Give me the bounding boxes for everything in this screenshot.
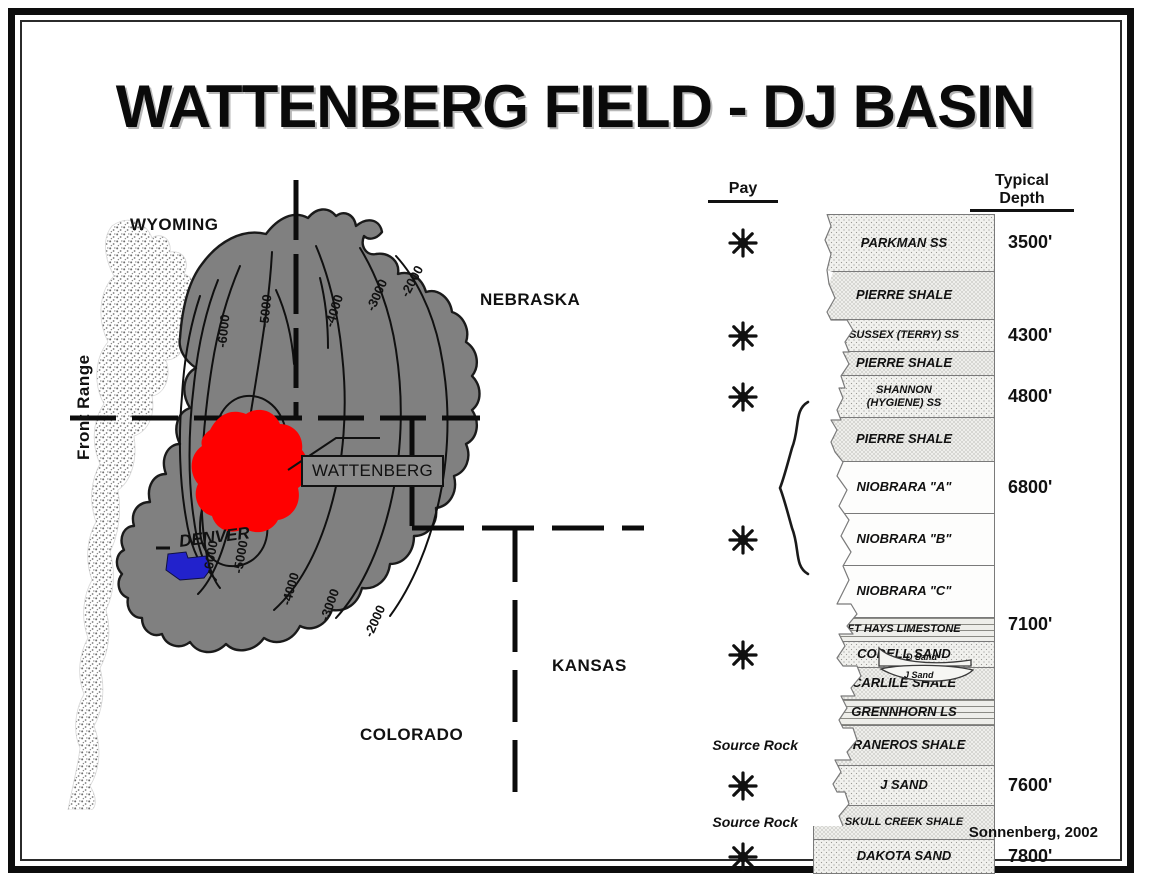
map-label-wyoming: WYOMING [130,215,219,235]
pay-star-shannon-hygiene-ss [728,382,758,412]
niobrara-group-brace [778,400,812,576]
strat-unit-parkman-ss: PARKMAN SS [813,214,995,272]
strat-unit-niobrara-b: NIOBRARA "B" [813,514,995,566]
strat-unit-label-graneros-shale: GRANEROS SHALE [841,738,968,753]
strat-unit-label-niobrara-b: NIOBRARA "B" [855,532,954,547]
depth-header-line1: Typical [995,172,1049,189]
pay-star-codell-sand [728,640,758,670]
strat-unit-sussex-terry-ss: SUSSEX (TERRY) SS [813,320,995,352]
typical-depth-column-header: Typical Depth [970,172,1074,212]
source-rock-label-graneros-shale: Source Rock [690,737,798,753]
depth-value-shannon-hygiene-ss: 4800' [1008,386,1052,407]
pay-star-parkman-ss [728,228,758,258]
strat-unit-label-grennhorn-ls: GRENNHORN LS [849,705,958,720]
wattenberg-callout-box: WATTENBERG [301,455,444,487]
pay-column-header: Pay [708,180,778,203]
strat-unit-label-niobrara-c: NIOBRARA "C" [855,584,954,599]
depth-value-parkman-ss: 3500' [1008,232,1052,253]
strat-unit-label-niobrara-a: NIOBRARA "A" [855,480,954,495]
pay-star-niobrara-b [728,525,758,555]
dj-basin-map-svg: -2000 -3000 -4000 -5000 -6000 -6000 -500… [60,170,680,810]
strat-unit-dakota-sand: DAKOTA SAND [813,840,995,874]
strat-unit-shannon-hygiene-ss: SHANNON(HYGIENE) SS [813,376,995,418]
figure-title: WATTENBERG FIELD - DJ BASIN [0,72,1150,141]
strat-unit-niobrara-a: NIOBRARA "A" [813,462,995,514]
strat-unit-label-shannon-hygiene-ss: SHANNON(HYGIENE) SS [865,384,944,409]
strat-unit-grennhorn-ls: GRENNHORN LS [813,700,995,726]
map-label-nebraska: NEBRASKA [480,290,580,310]
strat-unit-label-j-sand: J SAND [878,778,930,793]
strat-unit-label-pierre-shale-2: PIERRE SHALE [854,356,954,371]
pay-star-j-sand [728,771,758,801]
depth-value-sussex-terry-ss: 4300' [1008,325,1052,346]
strat-unit-codell-sand: CODELL SAND [813,642,995,668]
source-rock-label-skull-creek-shale: Source Rock [690,814,798,830]
strat-unit-graneros-shale: GRANEROS SHALE [813,726,995,766]
strat-unit-pierre-shale-3: PIERRE SHALE [813,418,995,462]
strat-unit-label-skull-creek-shale: SKULL CREEK SHALE [843,816,965,828]
strat-unit-label-parkman-ss: PARKMAN SS [859,236,949,251]
strat-unit-pierre-shale-2: PIERRE SHALE [813,352,995,376]
j-sand-label: J Sand [904,670,934,680]
strat-unit-niobrara-c: NIOBRARA "C" [813,566,995,618]
depth-header-line2: Depth [999,190,1044,207]
d-sand-label: D Sand [906,652,937,662]
figure-credit: Sonnenberg, 2002 [969,824,1098,841]
depth-value-j-sand: 7600' [1008,775,1052,796]
strat-unit-label-ft-hays-limestone: FT HAYS LIMESTONE [845,623,962,635]
map-label-kansas: KANSAS [552,656,627,676]
strat-unit-j-sand: J SAND [813,766,995,806]
stratigraphic-column-panel: Pay Typical Depth PARKMAN SSPIERRE SHALE… [690,170,1100,850]
wattenberg-field-figure: WATTENBERG FIELD - DJ BASIN [0,0,1150,889]
pay-star-dakota-sand [728,842,758,872]
lithology-column: PARKMAN SSPIERRE SHALESUSSEX (TERRY) SSP… [813,214,995,874]
depth-value-ft-hays-limestone: 7100' [1008,614,1052,635]
depth-value-niobrara-a: 6800' [1008,477,1052,498]
map-label-colorado: COLORADO [360,725,463,745]
contour-label--2000-se: -2000 [361,603,388,639]
depth-value-dakota-sand: 7800' [1008,846,1052,867]
strat-unit-label-dakota-sand: DAKOTA SAND [855,849,954,864]
strat-unit-label-pierre-shale-3: PIERRE SHALE [854,432,954,447]
strat-unit-label-sussex-terry-ss: SUSSEX (TERRY) SS [847,329,961,341]
strat-unit-pierre-shale-1: PIERRE SHALE [813,272,995,320]
strat-unit-skull-creek-shale: SKULL CREEK SHALE [813,806,995,840]
pay-star-sussex-terry-ss [728,321,758,351]
dj-basin-map: -2000 -3000 -4000 -5000 -6000 -6000 -500… [60,170,680,810]
strat-unit-label-codell-sand: CODELL SAND [855,647,953,662]
map-label-front-range: Front Range [74,354,94,460]
strat-unit-ft-hays-limestone: FT HAYS LIMESTONE [813,618,995,642]
strat-unit-label-pierre-shale-1: PIERRE SHALE [854,288,954,303]
